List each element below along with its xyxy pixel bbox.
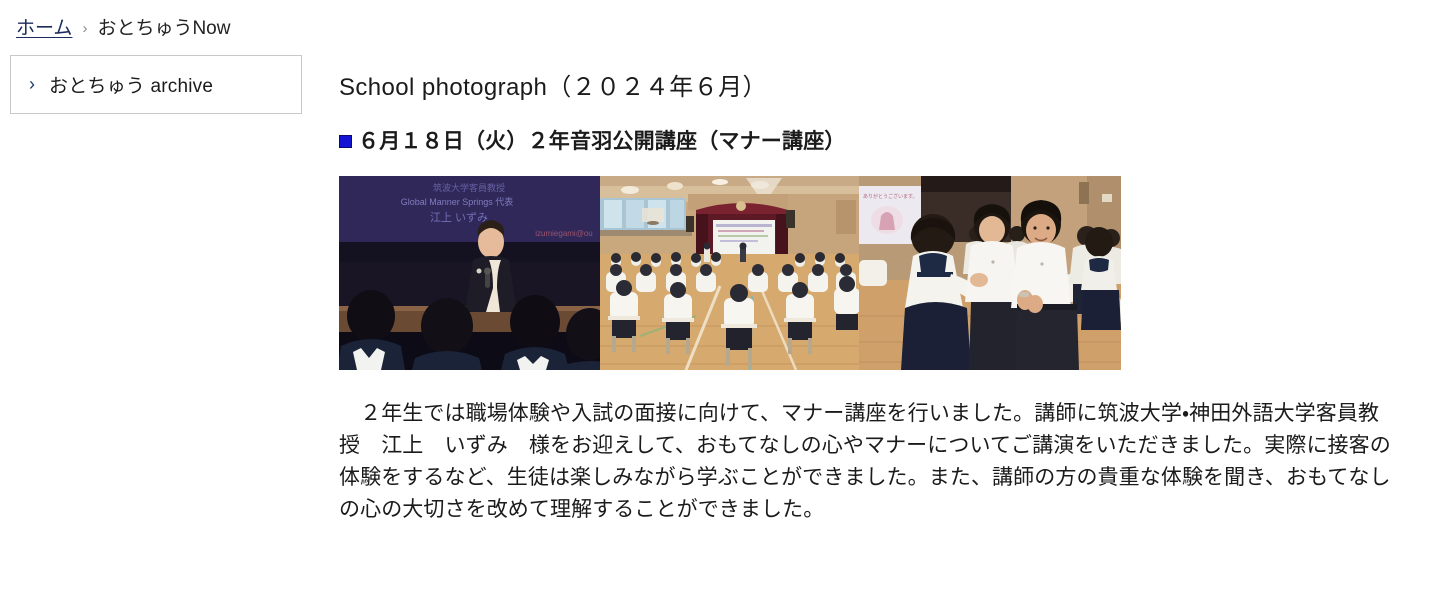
svg-text:筑波大学客員教授: 筑波大学客員教授 — [433, 182, 505, 193]
breadcrumb: ホーム › おとちゅうNow — [0, 0, 1440, 55]
article-paragraph: ２年生では職場体験や入試の面接に向けて、マナー講座を行いました。講師に筑波大学・… — [339, 398, 1397, 526]
page-layout: › おとちゅう archive School photograph（２０２４年６… — [0, 55, 1440, 526]
svg-text:江上 いずみ: 江上 いずみ — [430, 211, 488, 224]
section-heading: ６月１８日（火）２年音羽公開講座（マナー講座） — [339, 129, 1420, 154]
blue-square-bullet-icon — [339, 135, 352, 148]
breadcrumb-current-page: おとちゅうNow — [97, 18, 230, 41]
photo-gymnasium-assembly — [600, 176, 859, 370]
sidebar-item-otochu-archive[interactable]: › おとちゅう archive — [10, 55, 302, 114]
breadcrumb-link-home[interactable]: ホーム — [16, 18, 72, 41]
main-content: School photograph（２０２４年６月） ６月１８日（火）２年音羽公… — [302, 55, 1440, 526]
sidebar-item-label: おとちゅう archive — [49, 71, 213, 98]
page-title: School photograph（２０２４年６月） — [339, 72, 1420, 103]
chevron-right-icon: › — [82, 20, 87, 38]
chevron-right-icon: › — [29, 75, 35, 93]
svg-text:ありがとうございます。: ありがとうございます。 — [863, 193, 918, 200]
svg-text:izumiegami@ou: izumiegami@ou — [535, 229, 592, 238]
svg-text:Global Manner Springs 代表: Global Manner Springs 代表 — [401, 197, 514, 207]
photo-manner-practice: ありがとうございます。 — [859, 176, 1121, 370]
section-heading-label: ６月１８日（火）２年音羽公開講座（マナー講座） — [358, 129, 846, 154]
article-body: ２年生では職場体験や入試の面接に向けて、マナー講座を行いました。講師に筑波大学・… — [339, 398, 1397, 526]
photo-lecture-speaker: 筑波大学客員教授 Global Manner Springs 代表 江上 いずみ… — [339, 176, 600, 370]
sidebar: › おとちゅう archive — [0, 55, 302, 114]
photo-strip: 筑波大学客員教授 Global Manner Springs 代表 江上 いずみ… — [339, 176, 1121, 370]
